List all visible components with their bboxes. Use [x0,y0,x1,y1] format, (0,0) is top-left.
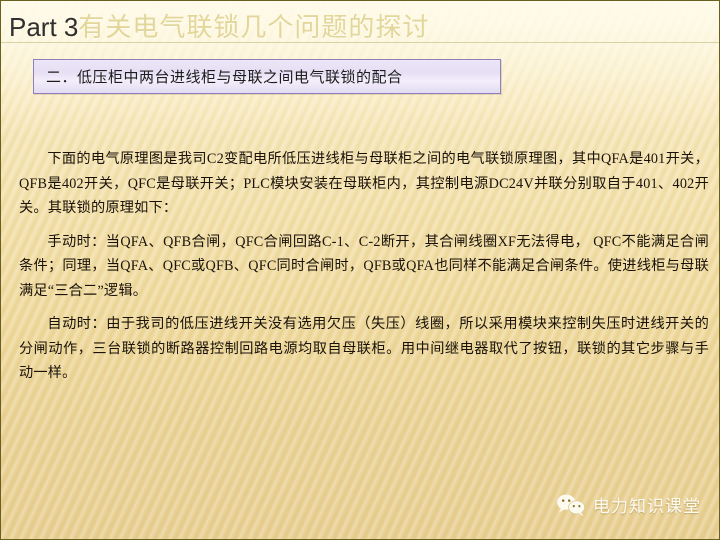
body-paragraph: 自动时：由于我司的低压进线开关没有选用欠压（失压）线圈，所以采用模块来控制失压时… [19,312,709,386]
watermark-label: 电力知识课堂 [593,492,701,517]
wechat-icon [556,493,586,517]
page-title: Part 3有关电气联锁几个问题的探讨 [9,7,429,44]
title-heading-cn: 有关电气联锁几个问题的探讨 [78,13,429,42]
slide-canvas: Part 3有关电气联锁几个问题的探讨 二．低压柜中两台进线柜与母联之间电气联锁… [0,0,720,540]
body-content: 下面的电气原理图是我司C2变配电所低压进线柜与母联柜之间的电气联锁原理图，其中Q… [19,147,709,395]
section-heading-text: 二．低压柜中两台进线柜与母联之间电气联锁的配合 [34,66,403,87]
watermark: 电力知识课堂 [556,492,701,517]
section-heading-box: 二．低压柜中两台进线柜与母联之间电气联锁的配合 [33,59,501,94]
title-part-label: Part 3 [9,12,78,42]
body-paragraph: 手动时：当QFA、QFB合闸，QFC合闸回路C-1、C-2断开，其合闸线圈XF无… [19,230,709,304]
body-paragraph: 下面的电气原理图是我司C2变配电所低压进线柜与母联柜之间的电气联锁原理图，其中Q… [19,147,709,221]
